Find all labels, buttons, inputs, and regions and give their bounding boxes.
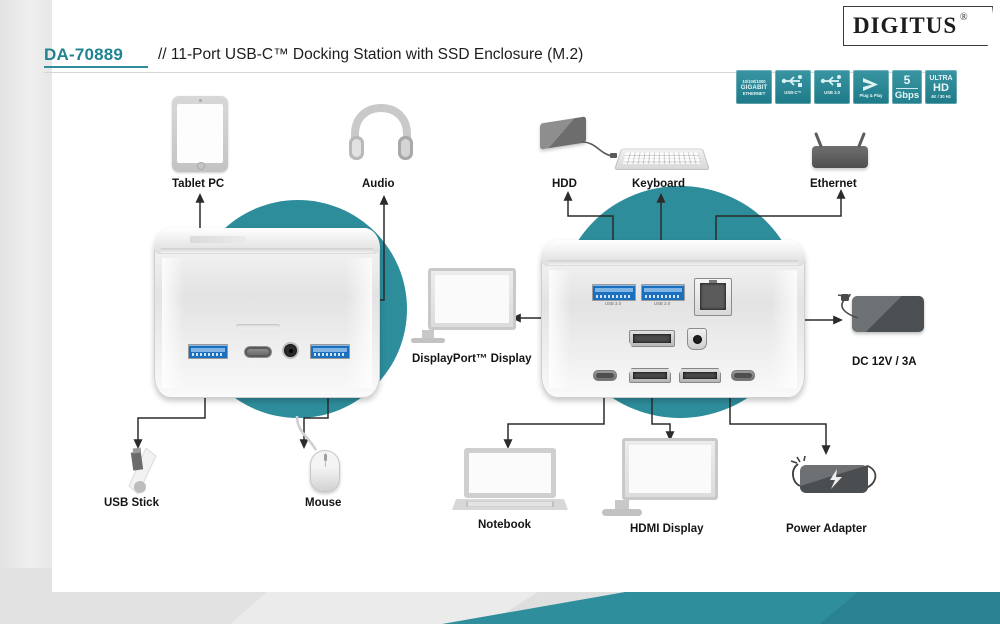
headphones-icon <box>348 104 414 162</box>
usb-3-0-port-rear-1[interactable] <box>592 284 636 301</box>
label-ethernet: Ethernet <box>810 178 857 190</box>
digitus-logo: DIGITUS ® <box>843 6 991 44</box>
notebook-icon <box>452 446 562 508</box>
dock-top-surface-rear <box>541 240 805 266</box>
usb-3-0-port-rear-1-caption: USB 3.0 <box>592 301 634 306</box>
monitor-inner-screen <box>435 275 509 323</box>
usb-c-inner <box>596 373 614 378</box>
ssd-bay-slot <box>236 324 280 329</box>
label-usb-stick: USB Stick <box>104 497 159 509</box>
monitor-screen <box>428 268 516 330</box>
hdmi-port-1[interactable] <box>629 368 671 383</box>
hdmi-port-2[interactable] <box>679 368 721 383</box>
usb-3-0-badge-label: USB 3.0 <box>824 90 840 95</box>
label-hdmi-display: HDMI Display <box>630 523 704 535</box>
ultra-hd-badge: ULTRA HD 4K / 30 Hz <box>925 70 957 104</box>
keyboard-keys <box>623 153 702 164</box>
ultra-hd-badge-line3: 4K / 30 Hz <box>931 94 951 99</box>
tablet-camera <box>199 99 202 102</box>
dock-highlight-right <box>346 258 372 388</box>
feature-badge-row: 10/100/1000 GIGABIT ETHERNET USB-C™ <box>736 70 957 104</box>
rj45-ethernet-port[interactable] <box>694 278 732 316</box>
label-audio: Audio <box>362 178 395 190</box>
dock-brand-emboss <box>190 236 246 243</box>
label-notebook: Notebook <box>478 519 531 531</box>
usb-c-inner <box>734 373 752 378</box>
hdmi-contacts <box>683 372 717 379</box>
label-dc-power: DC 12V / 3A <box>852 356 917 368</box>
sku-underline <box>44 66 148 68</box>
usb-3-0-port-front-right[interactable] <box>310 344 350 359</box>
monitor-base <box>411 338 445 343</box>
usb-c-inner <box>247 349 269 355</box>
usb-c-port-front[interactable] <box>244 346 272 358</box>
mouse-body <box>310 450 340 492</box>
speed-badge-rule <box>896 88 918 89</box>
usb-3-0-port-rear-2-caption: USB 3.0 <box>641 301 683 306</box>
audio-jack-hole <box>693 335 702 344</box>
speed-badge-value: 5 <box>904 74 911 87</box>
audio-jack-hole <box>289 349 293 353</box>
plug-and-play-badge: Plug & Play <box>853 70 889 104</box>
audio-jack-front[interactable] <box>284 344 297 357</box>
usb-port-tongue <box>595 288 633 292</box>
audio-jack-rear[interactable] <box>687 328 707 350</box>
tablet-home-button <box>197 162 205 170</box>
product-title-text: // 11-Port USB-C™ Docking Station with S… <box>158 46 583 64</box>
dock-highlight-left <box>549 270 571 388</box>
displayport-contacts <box>633 334 671 343</box>
logo-wordmark: DIGITUS <box>853 13 957 39</box>
dock-highlight-left <box>162 258 184 388</box>
gigabit-ethernet-badge: 10/100/1000 GIGABIT ETHERNET <box>736 70 772 104</box>
product-diagram-page: DIGITUS ® DA-70889 // 11-Port USB-C™ Doc… <box>0 0 1000 624</box>
label-tablet-pc: Tablet PC <box>172 178 224 190</box>
dock-top-surface-front <box>154 228 380 254</box>
monitor-base <box>602 509 642 516</box>
usb-trident-icon <box>819 73 845 89</box>
gigabit-badge-line2: GIGABIT <box>741 84 767 91</box>
router-body <box>812 146 868 168</box>
mouse-scroll-wheel <box>324 454 327 461</box>
label-keyboard: Keyboard <box>632 178 685 190</box>
usb-port-tongue <box>313 348 347 352</box>
usb-c-port-rear-right[interactable] <box>731 370 755 381</box>
usb-port-pins <box>314 353 346 356</box>
plug-and-play-badge-label: Plug & Play <box>859 93 882 98</box>
tablet-pc-icon <box>172 96 228 172</box>
logo-registered-mark: ® <box>960 12 968 23</box>
usb-port-tongue <box>191 348 225 352</box>
mouse-icon <box>310 450 340 492</box>
usb-c-port-rear-left[interactable] <box>593 370 617 381</box>
monitor-neck <box>422 330 434 338</box>
usb-c-badge-label: USB-C™ <box>784 90 801 95</box>
dock-highlight-right <box>771 270 797 388</box>
usb-3-0-port-front-left[interactable] <box>188 344 228 359</box>
usb-3-0-port-rear-2[interactable] <box>641 284 685 301</box>
rear-dock-view: USB 3.0 USB 3.0 <box>541 240 805 398</box>
label-displayport-display: DisplayPort™ Display <box>412 353 532 365</box>
keyboard-icon <box>614 142 708 170</box>
speed-badge-unit: Gbps <box>895 90 919 101</box>
label-mouse: Mouse <box>305 497 341 509</box>
usb-3-0-badge: USB 3.0 <box>814 70 850 104</box>
ethernet-router-icon <box>812 146 868 168</box>
monitor-screen <box>622 438 718 500</box>
usb-port-pins <box>645 295 681 298</box>
usb-port-pins <box>192 353 224 356</box>
ultra-hd-badge-line2: HD <box>933 83 949 94</box>
usb-port-pins <box>596 295 632 298</box>
monitor-neck <box>615 500 629 509</box>
background-left-strip <box>0 0 52 600</box>
rj45-contacts <box>700 283 726 310</box>
hdmi-contacts <box>633 372 667 379</box>
usb-c-badge: USB-C™ <box>775 70 811 104</box>
tablet-screen <box>177 104 223 163</box>
hdd-icon <box>540 120 586 146</box>
label-power-adapter: Power Adapter <box>786 523 867 535</box>
label-hdd: HDD <box>552 178 577 190</box>
page-title: DA-70889 // 11-Port USB-C™ Docking Stati… <box>44 45 644 69</box>
dc-power-supply-icon <box>852 296 924 332</box>
play-chevron-icon <box>858 76 884 93</box>
monitor-inner-screen <box>629 445 711 493</box>
gigabit-badge-line3: ETHERNET <box>743 91 766 96</box>
front-dock-view <box>154 228 380 398</box>
usb-trident-icon <box>780 73 806 89</box>
displayport-port[interactable] <box>629 330 675 347</box>
usb-stick-icon <box>122 446 156 492</box>
usb-port-tongue <box>644 288 682 292</box>
dock-top-lip <box>160 248 374 253</box>
keyboard-body <box>614 149 710 170</box>
dock-top-lip <box>547 260 799 265</box>
speed-badge: 5 Gbps <box>892 70 922 104</box>
product-sku: DA-70889 <box>44 45 123 65</box>
power-adapter-icon <box>790 456 880 507</box>
